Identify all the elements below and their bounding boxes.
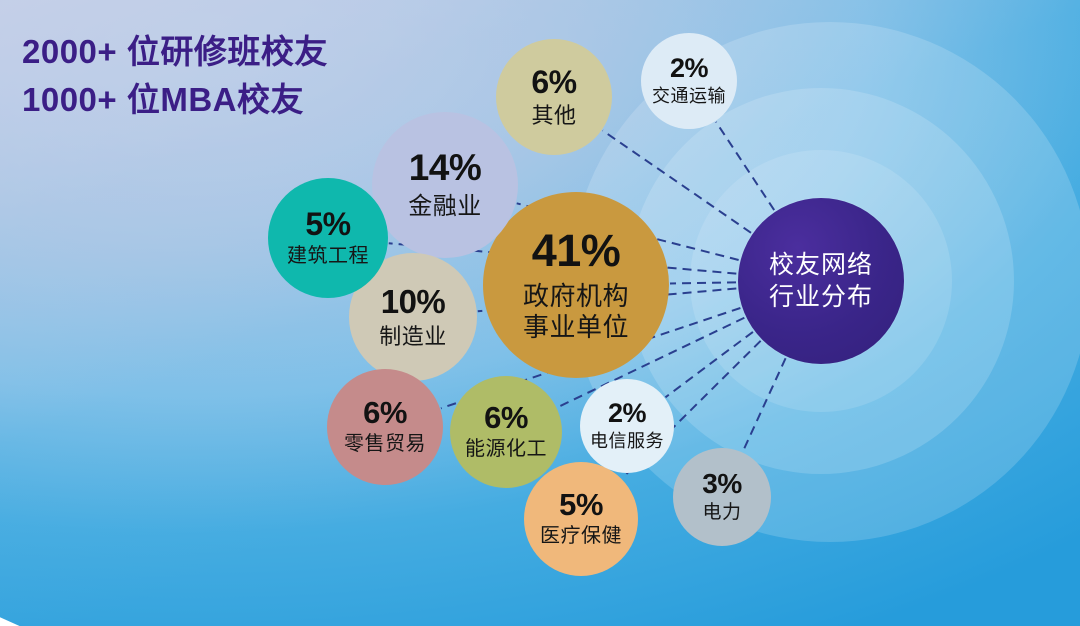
bubble-power[interactable]: 3%电力	[673, 448, 771, 546]
bubble-other[interactable]: 6%其他	[496, 39, 612, 155]
bubble-percent: 2%	[608, 400, 646, 427]
bubble-label: 零售贸易	[344, 433, 426, 457]
bubble-energy[interactable]: 6%能源化工	[450, 376, 562, 488]
bubble-retail[interactable]: 6%零售贸易	[327, 369, 443, 485]
bubble-healthcare[interactable]: 5%医疗保健	[524, 462, 638, 576]
bubble-label: 其他	[531, 103, 576, 129]
infographic-canvas: 2000+ 位研修班校友 1000+ 位MBA校友 校友网络 行业分布 41%政…	[0, 0, 1080, 626]
bubble-label: 政府机构	[523, 281, 629, 312]
bubble-percent: 5%	[305, 208, 350, 240]
bubble-percent: 6%	[363, 397, 407, 428]
bubble-government[interactable]: 41%政府机构事业单位	[483, 192, 669, 378]
bubble-label-2: 事业单位	[523, 312, 629, 343]
bubble-label: 制造业	[379, 324, 447, 350]
bubble-percent: 5%	[559, 489, 603, 520]
bubble-label: 电信服务	[590, 431, 664, 452]
bubble-finance[interactable]: 14%金融业	[372, 112, 518, 258]
bubble-percent: 3%	[702, 470, 741, 498]
hub-title-line-2: 行业分布	[769, 281, 873, 313]
bubble-percent: 10%	[381, 285, 446, 318]
bubble-label: 医疗保健	[540, 525, 622, 549]
headline-line-1: 2000+ 位研修班校友	[22, 28, 328, 76]
bubble-percent: 6%	[484, 402, 528, 433]
bubble-percent: 2%	[670, 55, 708, 82]
headline-block: 2000+ 位研修班校友 1000+ 位MBA校友	[22, 28, 328, 124]
bubble-label: 电力	[702, 502, 741, 524]
bubble-percent: 6%	[531, 66, 576, 98]
bubble-telecom[interactable]: 2%电信服务	[580, 379, 674, 473]
headline-line-2: 1000+ 位MBA校友	[22, 76, 328, 124]
bubble-transport[interactable]: 2%交通运输	[641, 33, 737, 129]
bubble-label: 金融业	[408, 193, 482, 221]
bubble-label: 能源化工	[465, 438, 547, 462]
bubble-construction[interactable]: 5%建筑工程	[268, 178, 388, 298]
bubble-label: 交通运输	[652, 86, 726, 107]
bubble-percent: 14%	[409, 149, 482, 186]
bubble-percent: 41%	[532, 228, 621, 273]
bubble-label: 建筑工程	[287, 245, 369, 269]
hub-circle[interactable]: 校友网络 行业分布	[738, 198, 904, 364]
hub-title-line-1: 校友网络	[769, 249, 873, 281]
